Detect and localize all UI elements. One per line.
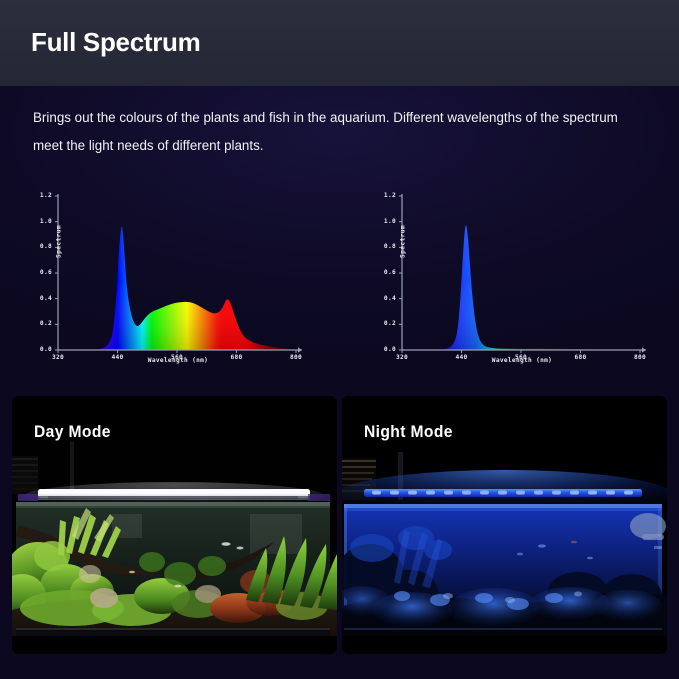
y-tick-label: 0.0 bbox=[22, 346, 52, 353]
x-axis-arrow bbox=[642, 347, 646, 352]
panel-day-mode[interactable]: Day Mode bbox=[12, 396, 337, 654]
chart-full-spectrum: 0.00.20.40.60.81.01.2320440560680800Spec… bbox=[18, 186, 318, 376]
spectrum-shading bbox=[58, 227, 296, 350]
y-tick-label: 0.6 bbox=[22, 269, 52, 276]
y-tick-label: 0.8 bbox=[22, 243, 52, 250]
day-mode-label: Day Mode bbox=[34, 422, 111, 442]
spectrum-shading bbox=[402, 225, 640, 350]
intro-paragraph: Brings out the colours of the plants and… bbox=[33, 104, 633, 160]
y-tick-label: 0.8 bbox=[366, 243, 396, 250]
y-tick-label: 1.0 bbox=[22, 218, 52, 225]
y-axis-title: Spectrum bbox=[400, 207, 407, 277]
y-tick-label: 0.0 bbox=[366, 346, 396, 353]
y-tick-label: 0.4 bbox=[22, 295, 52, 302]
y-tick-label: 1.2 bbox=[366, 192, 396, 199]
product-feature-page: Full Spectrum Brings out the colours of … bbox=[0, 0, 679, 679]
mode-panels: Day Mode bbox=[0, 396, 679, 658]
y-tick-label: 0.2 bbox=[22, 320, 52, 327]
chart-plot-area bbox=[18, 186, 318, 376]
y-tick-label: 0.4 bbox=[366, 295, 396, 302]
chart-canvas-night-spectrum: 0.00.20.40.60.81.01.2320440560680800Spec… bbox=[362, 186, 662, 376]
chart-canvas-full-spectrum: 0.00.20.40.60.81.01.2320440560680800Spec… bbox=[18, 186, 318, 376]
header-band: Full Spectrum bbox=[0, 0, 679, 86]
y-tick-label: 0.6 bbox=[366, 269, 396, 276]
chart-plot-area bbox=[362, 186, 662, 376]
spectrum-area bbox=[402, 225, 640, 350]
y-tick-label: 0.2 bbox=[366, 320, 396, 327]
x-axis-arrow bbox=[298, 347, 302, 352]
x-axis-title: Wavelength (nm) bbox=[402, 357, 642, 364]
page-title: Full Spectrum bbox=[31, 27, 200, 58]
chart-night-spectrum: 0.00.20.40.60.81.01.2320440560680800Spec… bbox=[362, 186, 662, 376]
y-tick-label: 1.0 bbox=[366, 218, 396, 225]
panel-night-mode[interactable]: Night Mode bbox=[342, 396, 667, 654]
y-tick-label: 1.2 bbox=[22, 192, 52, 199]
x-axis-title: Wavelength (nm) bbox=[58, 357, 298, 364]
y-axis-title: Spectrum bbox=[56, 207, 63, 277]
night-mode-label: Night Mode bbox=[364, 422, 453, 442]
spectrum-charts: 0.00.20.40.60.81.01.2320440560680800Spec… bbox=[0, 186, 679, 376]
